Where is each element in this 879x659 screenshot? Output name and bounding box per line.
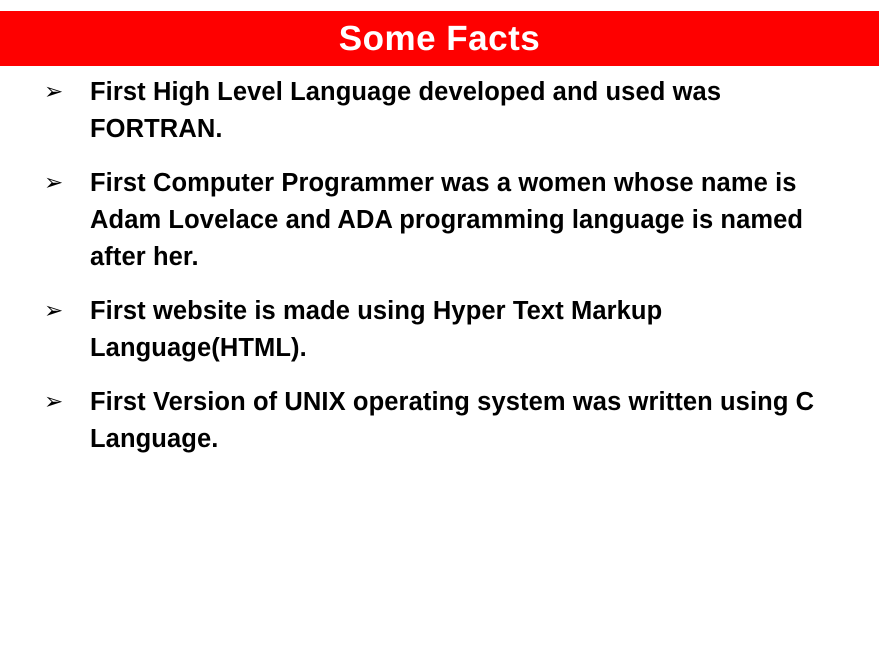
list-item: ➢ First High Level Language developed an… [0, 74, 879, 148]
arrowhead-bullet-icon: ➢ [44, 293, 90, 330]
arrowhead-bullet-icon: ➢ [44, 165, 90, 202]
list-item-text: First Computer Programmer was a women wh… [90, 165, 835, 276]
list-item: ➢ First Version of UNIX operating system… [0, 384, 879, 458]
arrowhead-bullet-icon: ➢ [44, 74, 90, 111]
title-banner: Some Facts [0, 11, 879, 66]
facts-list: ➢ First High Level Language developed an… [0, 74, 879, 475]
list-item-text: First Version of UNIX operating system w… [90, 384, 855, 458]
list-item: ➢ First Computer Programmer was a women … [0, 165, 879, 276]
arrowhead-bullet-icon: ➢ [44, 384, 90, 421]
list-item-text: First High Level Language developed and … [90, 74, 859, 148]
slide: Some Facts ➢ First High Level Language d… [0, 0, 879, 659]
list-item: ➢ First website is made using Hyper Text… [0, 293, 879, 367]
list-item-text: First website is made using Hyper Text M… [90, 293, 795, 367]
page-title: Some Facts [339, 21, 540, 56]
